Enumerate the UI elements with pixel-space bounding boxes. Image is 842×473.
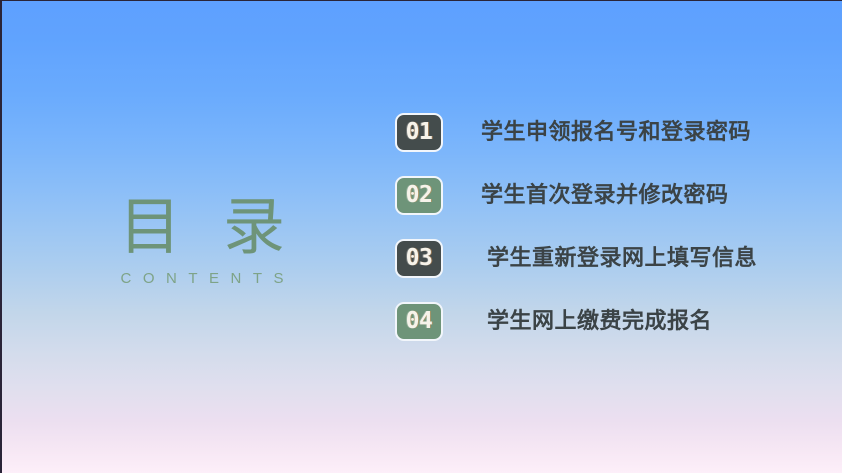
toc-label-03: 学生重新登录网上填写信息 <box>487 248 757 270</box>
toc-label-04: 学生网上缴费完成报名 <box>487 311 712 333</box>
toc-badge-01: 01 <box>395 113 443 152</box>
toc-item-02[interactable]: 02 学生首次登录并修改密码 <box>395 176 815 215</box>
toc-item-03[interactable]: 03 学生重新登录网上填写信息 <box>395 239 815 278</box>
toc-label-02: 学生首次登录并修改密码 <box>481 185 729 207</box>
title-char-mu: 目 <box>119 196 181 258</box>
toc-item-04[interactable]: 04 学生网上缴费完成报名 <box>395 302 815 341</box>
toc-list: 01 学生申领报名号和登录密码 02 学生首次登录并修改密码 03 学生重新登录… <box>395 113 815 341</box>
toc-label-01: 学生申领报名号和登录密码 <box>481 122 751 144</box>
toc-badge-03: 03 <box>395 239 443 278</box>
title-char-lu: 录 <box>223 196 285 258</box>
contents-title-cn: 目 录 <box>82 196 322 258</box>
slide-canvas: 目 录 CONTENTS 01 学生申领报名号和登录密码 02 学生首次登录并修… <box>0 0 842 473</box>
contents-title-block: 目 录 CONTENTS <box>82 196 322 286</box>
contents-title-en: CONTENTS <box>82 271 322 286</box>
toc-badge-04: 04 <box>395 302 443 341</box>
toc-badge-02: 02 <box>395 176 443 215</box>
toc-item-01[interactable]: 01 学生申领报名号和登录密码 <box>395 113 815 152</box>
